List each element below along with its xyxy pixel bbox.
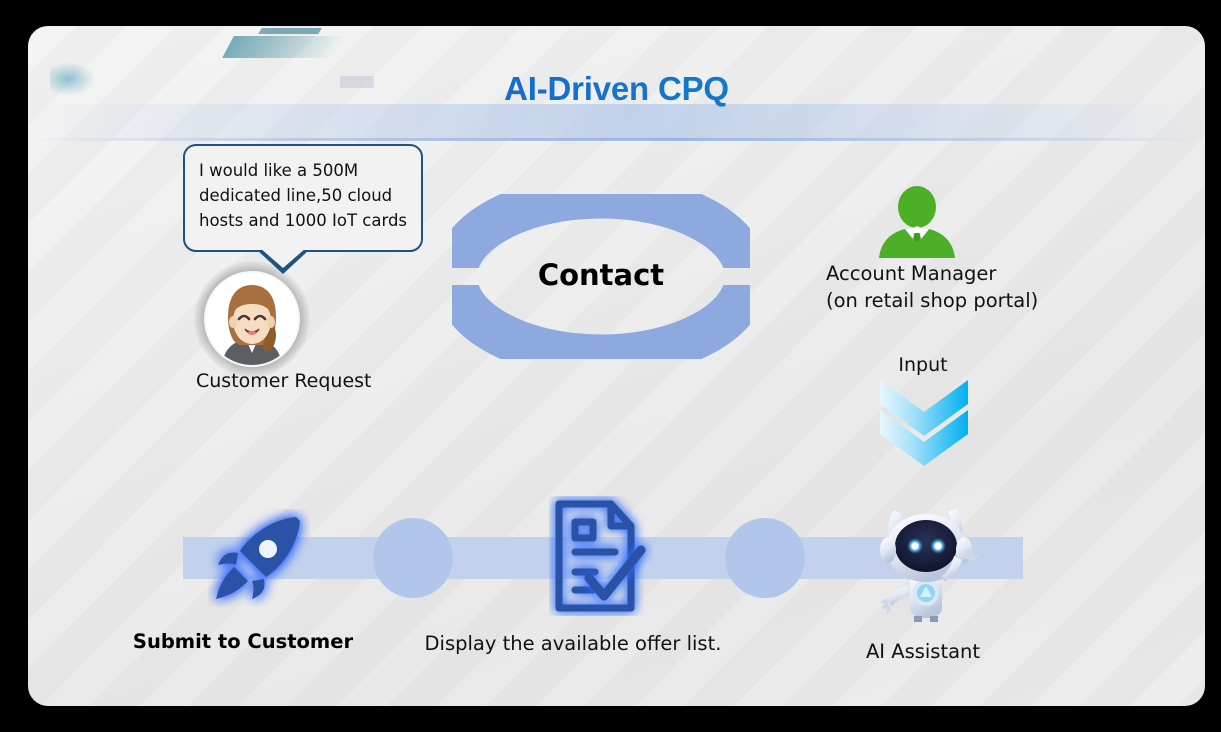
account-manager-line1: Account Manager — [826, 260, 1156, 287]
page-title: AI-Driven CPQ — [28, 70, 1205, 108]
slide-card: AI-Driven CPQ I would like a 500M dedica… — [28, 26, 1205, 706]
ai-robot-icon[interactable] — [870, 500, 982, 622]
section-divider — [178, 432, 1046, 440]
document-check-icon[interactable] — [549, 496, 653, 616]
account-manager-label: Account Manager (on retail shop portal) — [826, 260, 1156, 314]
process-node-circle — [725, 518, 805, 598]
contact-label: Contact — [452, 258, 750, 292]
double-chevron-down-icon — [878, 378, 970, 466]
customer-avatar-icon — [206, 273, 298, 365]
customer-avatar — [206, 273, 298, 365]
display-offer-list-label: Display the available offer list. — [423, 632, 723, 655]
businessman-icon — [871, 186, 963, 258]
customer-avatar-circle — [206, 273, 298, 365]
ai-assistant-label: AI Assistant — [818, 640, 1028, 663]
customer-request-label: Customer Request — [28, 370, 478, 392]
header-gradient-band — [28, 104, 1205, 140]
process-node-circle — [373, 518, 453, 598]
decorative-streak-1 — [222, 36, 344, 58]
rocket-icon[interactable] — [208, 509, 310, 607]
account-manager-line2: (on retail shop portal) — [826, 287, 1156, 314]
header-underline — [28, 138, 1205, 141]
speech-bubble-text: I would like a 500M dedicated line,50 cl… — [199, 158, 407, 233]
slide-root: AI-Driven CPQ I would like a 500M dedica… — [0, 0, 1221, 732]
submit-to-customer-label: Submit to Customer — [88, 630, 398, 653]
input-label: Input — [848, 354, 998, 376]
speech-bubble: I would like a 500M dedicated line,50 cl… — [183, 144, 423, 252]
decorative-streak-2 — [258, 28, 321, 34]
